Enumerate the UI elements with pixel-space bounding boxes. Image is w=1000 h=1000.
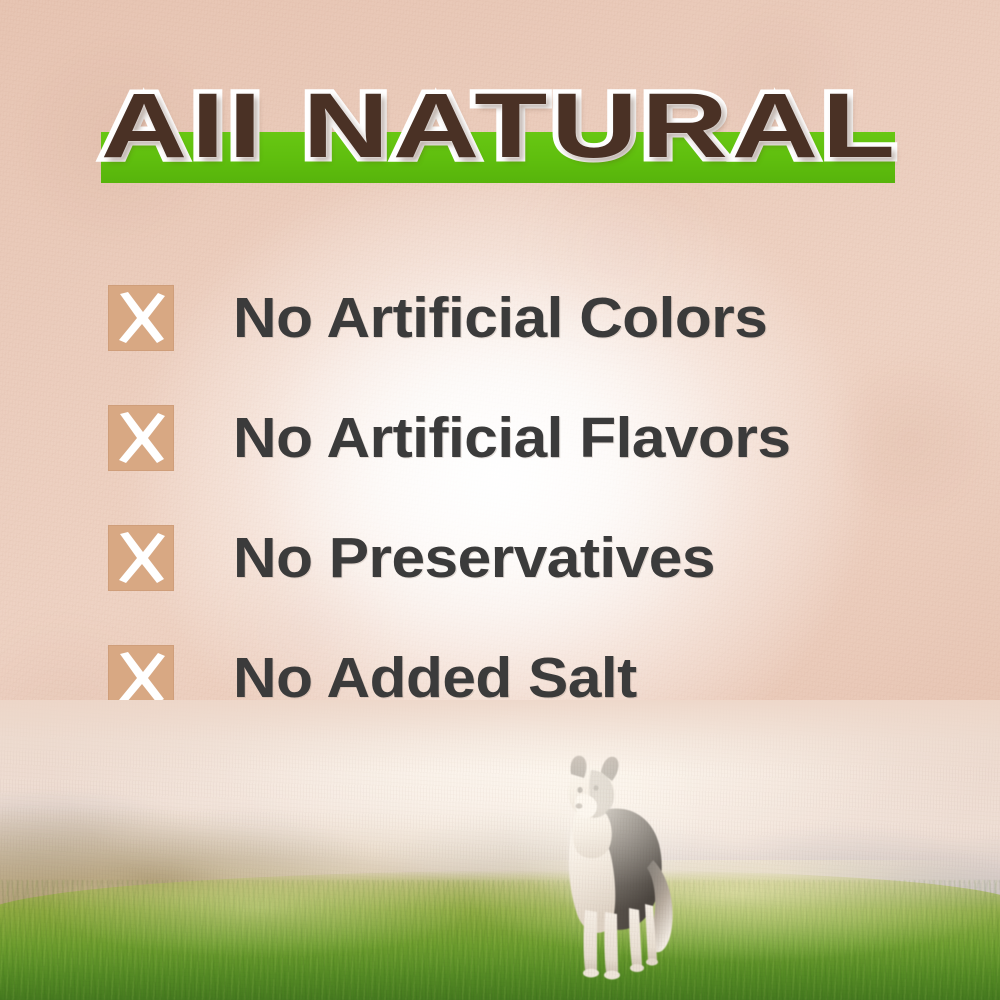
list-item: No Artificial Flavors	[108, 378, 928, 498]
claim-label: No Artificial Colors	[233, 290, 767, 347]
claim-label: No Preservatives	[233, 530, 715, 587]
grass-foreground	[0, 870, 1000, 1000]
poster-canvas: AII NATURAL No Artificial Colors No Arti…	[0, 0, 1000, 1000]
landscape-photo	[0, 700, 1000, 1000]
list-item: No Preservatives	[108, 498, 928, 618]
headline-green-banner	[101, 132, 895, 183]
x-mark-icon	[108, 285, 174, 351]
claims-list: No Artificial Colors No Artificial Flavo…	[108, 258, 928, 738]
list-item: No Artificial Colors	[108, 258, 928, 378]
claim-label: No Added Salt	[233, 650, 637, 707]
x-mark-icon	[108, 525, 174, 591]
dog-illustration	[533, 752, 701, 988]
x-mark-icon	[108, 405, 174, 471]
claim-label: No Artificial Flavors	[233, 410, 790, 467]
